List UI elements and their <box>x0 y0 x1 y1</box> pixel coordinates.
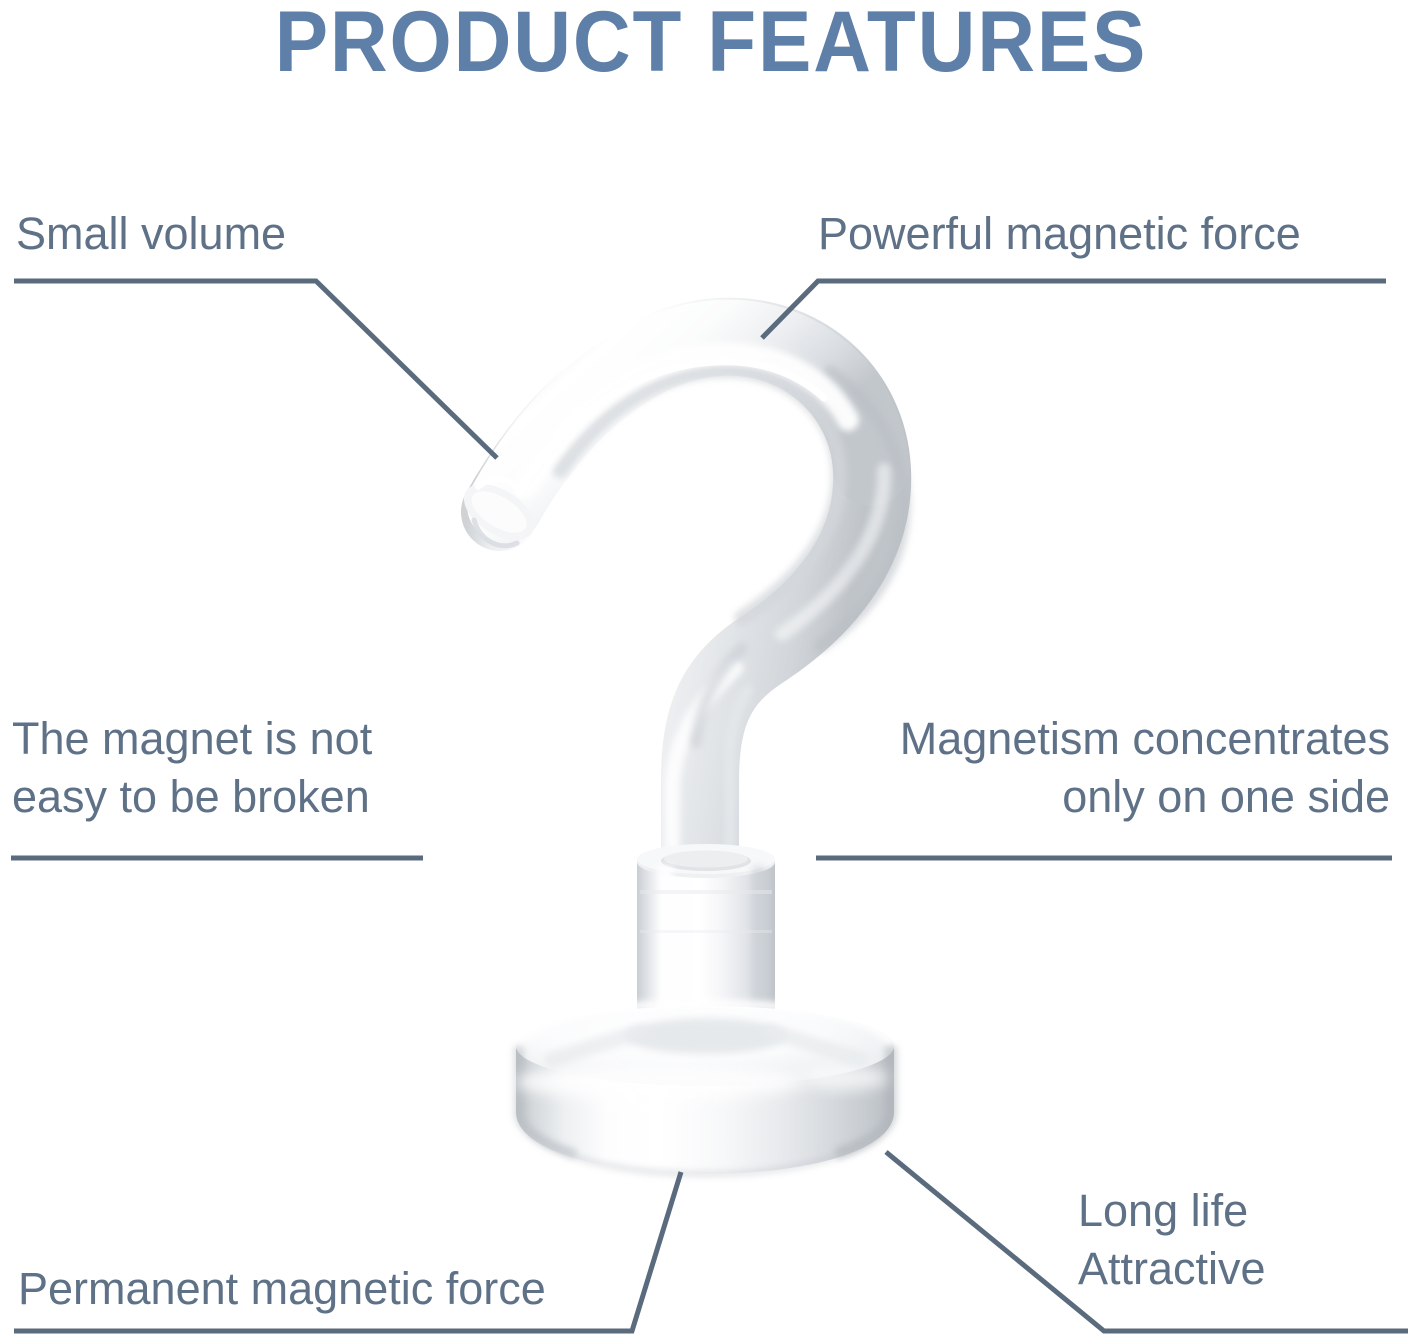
product-image-magnetic-hook <box>0 0 1422 1337</box>
callout-line: Permanent magnetic force <box>18 1260 546 1318</box>
callout-label-magnetism-one-side: Magnetism concentrates only on one side <box>815 710 1390 826</box>
magnet-disc <box>514 1004 894 1174</box>
callout-label-permanent-magnetic-force: Permanent magnetic force <box>18 1260 546 1318</box>
callout-line: Attractive <box>1078 1240 1266 1298</box>
callout-line: Long life <box>1078 1182 1266 1240</box>
infographic-canvas: PRODUCT FEATURES <box>0 0 1422 1337</box>
callout-label-powerful-magnetic-force: Powerful magnetic force <box>818 205 1301 263</box>
callout-line: Small volume <box>16 205 286 263</box>
callout-line: only on one side <box>815 768 1390 826</box>
callout-line: easy to be broken <box>12 768 372 826</box>
callout-line: The magnet is not <box>12 710 372 768</box>
callout-label-magnet-not-easy-broken: The magnet is not easy to be broken <box>12 710 372 826</box>
callout-label-long-life-attractive: Long life Attractive <box>1078 1182 1266 1298</box>
callout-line: Magnetism concentrates <box>815 710 1390 768</box>
callout-line: Powerful magnetic force <box>818 205 1301 263</box>
callout-label-small-volume: Small volume <box>16 205 286 263</box>
